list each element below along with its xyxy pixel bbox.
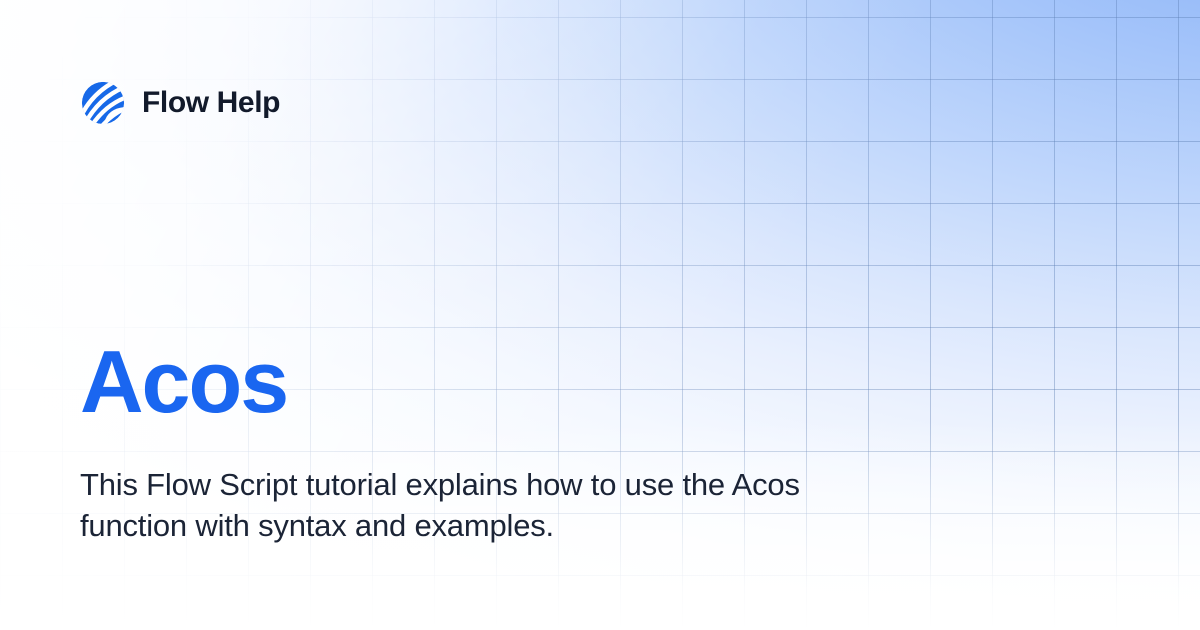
brand-lockup[interactable]: Flow Help	[80, 80, 280, 126]
page-title: Acos	[80, 338, 980, 426]
hero-block: Acos This Flow Script tutorial explains …	[80, 338, 980, 546]
flow-sphere-logo-icon	[80, 80, 126, 126]
share-card: Flow Help Acos This Flow Script tutorial…	[0, 0, 1200, 630]
page-description: This Flow Script tutorial explains how t…	[80, 464, 870, 546]
brand-name: Flow Help	[142, 88, 280, 118]
